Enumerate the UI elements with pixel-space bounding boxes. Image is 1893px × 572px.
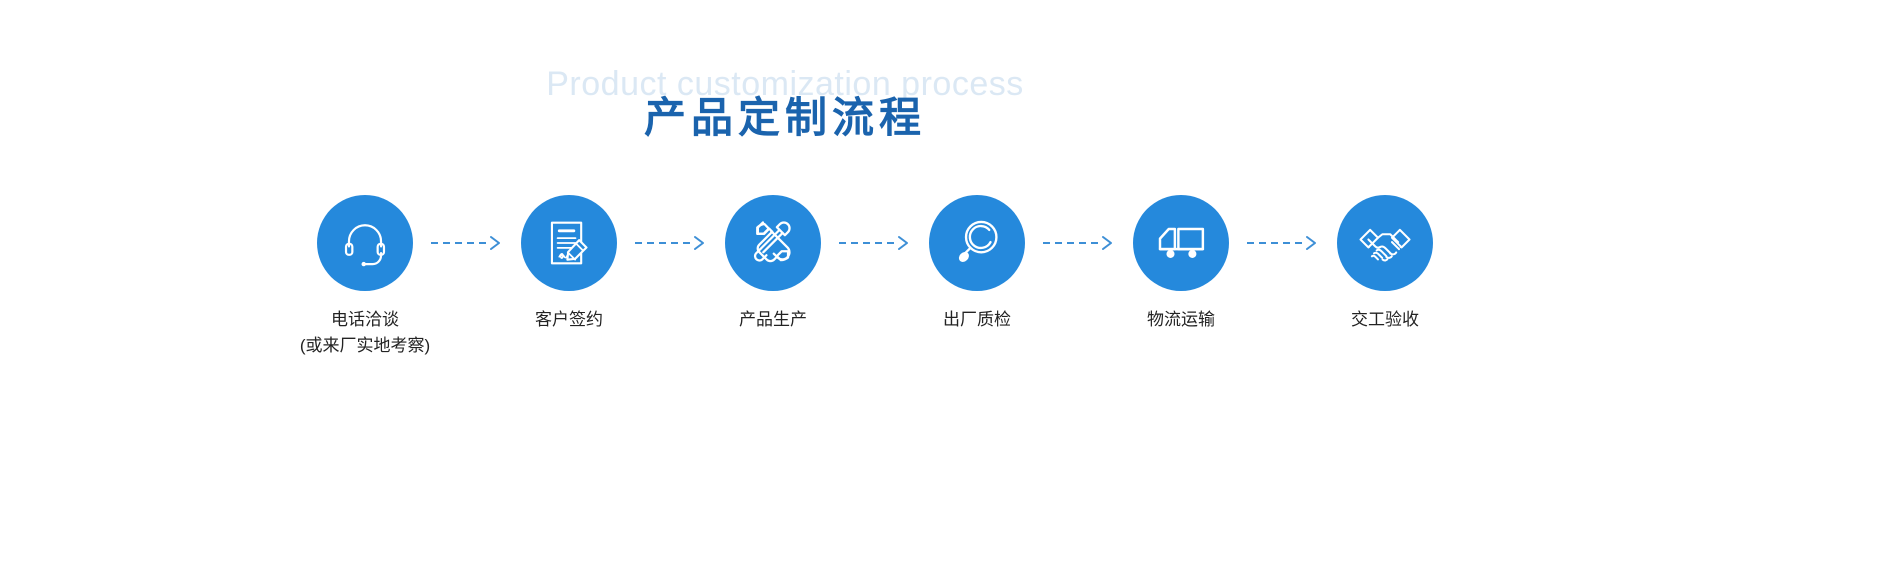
step-1-sublabel: (或来厂实地考察) (300, 333, 430, 359)
product-customization-process-banner: Product customization process 产品定制流程 电话洽… (0, 0, 1893, 572)
process-step-2[interactable]: 客户签约 (504, 195, 634, 333)
page-title: Product customization process 产品定制流程 (0, 62, 1570, 172)
process-step-5[interactable]: 物流运输 (1116, 195, 1246, 333)
step-2-label: 客户签约 (535, 307, 603, 333)
handshake-icon (1357, 215, 1413, 271)
dashed-arrow-icon (635, 235, 707, 251)
step-6-icon-circle[interactable] (1337, 195, 1433, 291)
connector-arrow-2 (634, 195, 708, 291)
step-5-icon-circle[interactable] (1133, 195, 1229, 291)
connector-arrow-4 (1042, 195, 1116, 291)
process-step-6[interactable]: 交工验收 (1320, 195, 1450, 333)
headset-icon (338, 216, 392, 270)
process-step-3[interactable]: 产品生产 (708, 195, 838, 333)
step-1-labels: 电话洽谈 (或来厂实地考察) (300, 307, 430, 359)
step-3-labels: 产品生产 (739, 307, 807, 333)
dashed-arrow-icon (1247, 235, 1319, 251)
dashed-arrow-icon (1043, 235, 1115, 251)
step-5-label: 物流运输 (1147, 307, 1215, 333)
process-flow: 电话洽谈 (或来厂实地考察) (300, 195, 1320, 359)
process-step-1[interactable]: 电话洽谈 (或来厂实地考察) (300, 195, 430, 359)
connector-arrow-3 (838, 195, 912, 291)
step-6-label: 交工验收 (1351, 307, 1419, 333)
magnifier-inspection-icon (950, 216, 1004, 270)
connector-arrow-1 (430, 195, 504, 291)
step-3-label: 产品生产 (739, 307, 807, 333)
contract-signing-icon (543, 217, 595, 269)
process-step-4[interactable]: 出厂质检 (912, 195, 1042, 333)
step-4-labels: 出厂质检 (943, 307, 1011, 333)
step-3-icon-circle[interactable] (725, 195, 821, 291)
connector-arrow-5 (1246, 195, 1320, 291)
delivery-truck-icon (1153, 215, 1209, 271)
dashed-arrow-icon (431, 235, 503, 251)
wrench-screwdriver-icon (745, 215, 801, 271)
step-2-icon-circle[interactable] (521, 195, 617, 291)
step-4-icon-circle[interactable] (929, 195, 1025, 291)
step-1-label: 电话洽谈 (300, 307, 430, 333)
page-title-chinese: 产品定制流程 (0, 90, 1570, 146)
step-2-labels: 客户签约 (535, 307, 603, 333)
step-1-icon-circle[interactable] (317, 195, 413, 291)
step-6-labels: 交工验收 (1351, 307, 1419, 333)
step-4-label: 出厂质检 (943, 307, 1011, 333)
dashed-arrow-icon (839, 235, 911, 251)
step-5-labels: 物流运输 (1147, 307, 1215, 333)
